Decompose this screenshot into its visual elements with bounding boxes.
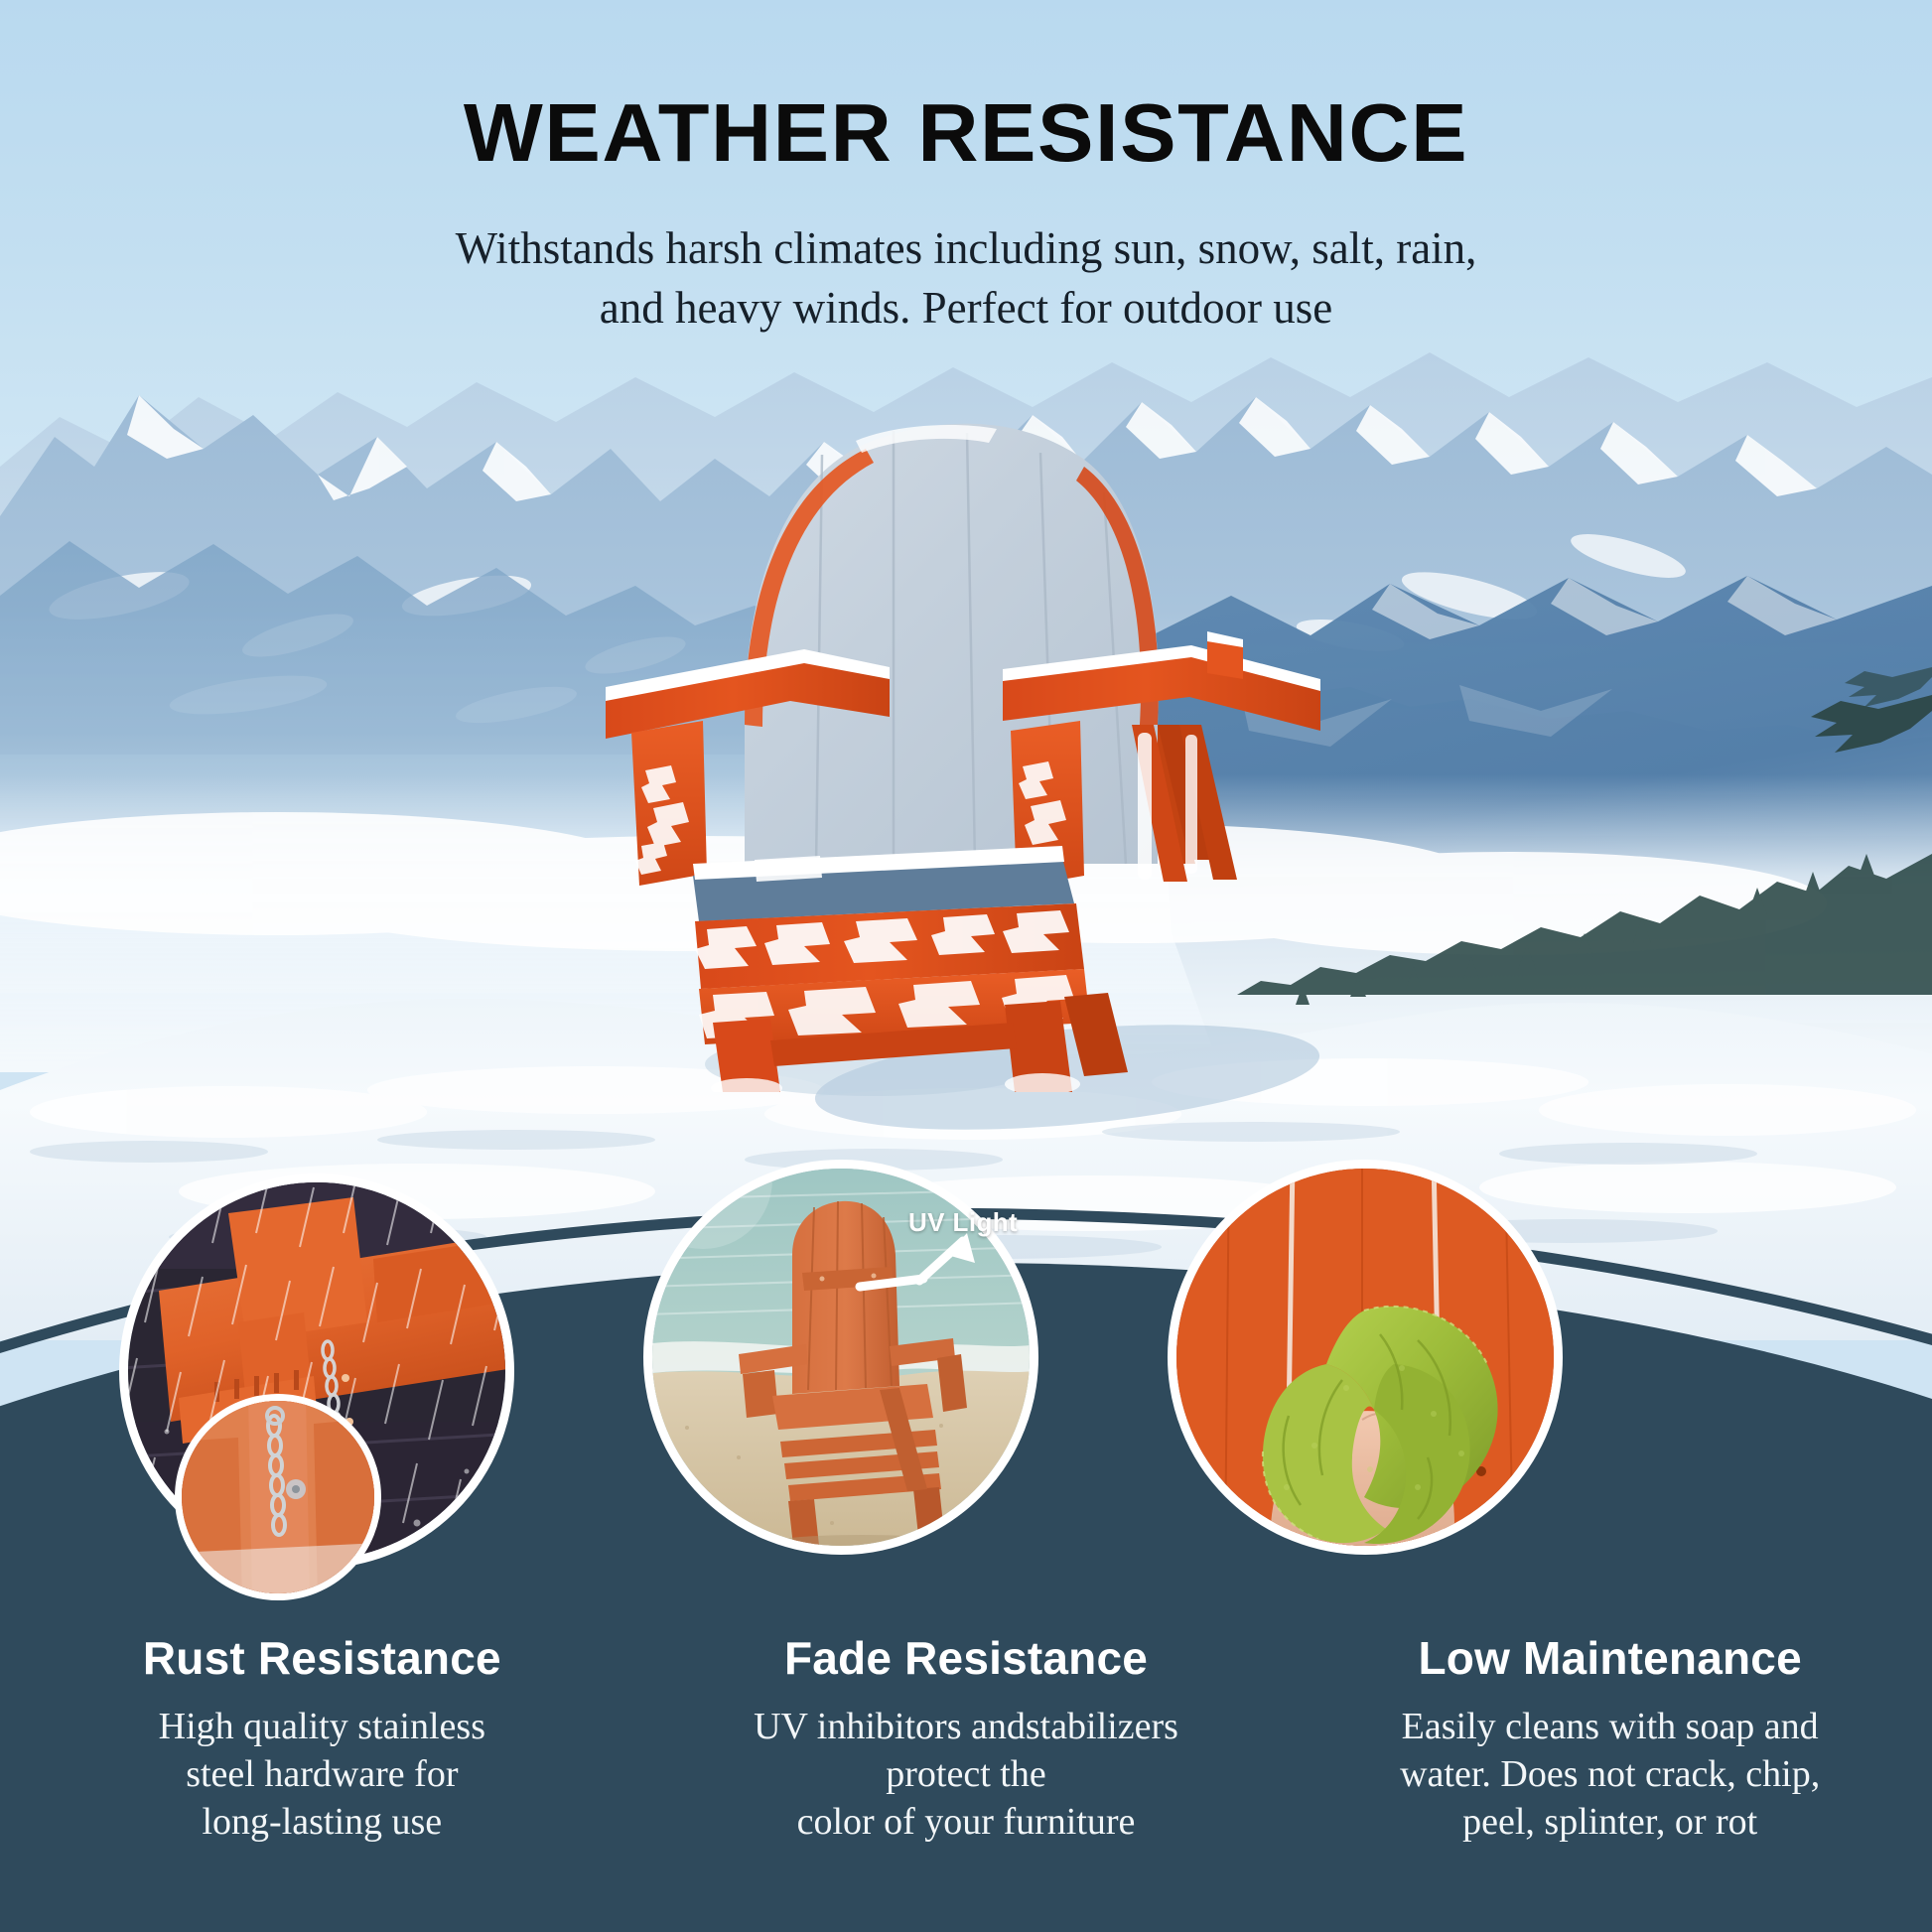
uv-light-label: UV Light [908, 1207, 1018, 1238]
weather-resistance-infographic: WEATHER RESISTANCE Withstands harsh clim… [0, 0, 1932, 1932]
feature-title-low: Low Maintenance [1311, 1634, 1908, 1682]
feature-desc-fade: UV inhibitors andstabilizers protect the… [668, 1704, 1265, 1847]
feature-desc-fade-line-3: color of your furniture [797, 1801, 1136, 1843]
feature-desc-rust-line-1: High quality stainless [159, 1706, 485, 1747]
feature-title-fade: Fade Resistance [668, 1634, 1265, 1682]
feature-desc-fade-line-1: UV inhibitors andstabilizers [754, 1706, 1178, 1747]
page-title: WEATHER RESISTANCE [0, 0, 1932, 174]
feature-desc-fade-line-2: protect the [886, 1753, 1045, 1795]
feature-desc-low-line-2: water. Does not crack, chip, [1400, 1753, 1820, 1795]
feature-rust-resistance: Rust Resistance High quality stainless s… [0, 1634, 644, 1932]
feature-desc-rust: High quality stainless steel hardware fo… [24, 1704, 621, 1847]
feature-captions: Rust Resistance High quality stainless s… [0, 1634, 1932, 1932]
feature-fade-resistance: Fade Resistance UV inhibitors andstabili… [644, 1634, 1289, 1932]
feature-inset-chain-detail [175, 1394, 381, 1600]
feature-desc-low: Easily cleans with soap and water. Does … [1311, 1704, 1908, 1847]
subtitle-line-1: Withstands harsh climates including sun,… [456, 223, 1477, 273]
feature-desc-rust-line-3: long-lasting use [202, 1801, 442, 1843]
feature-desc-low-line-3: peel, splinter, or rot [1462, 1801, 1757, 1843]
feature-low-maintenance: Low Maintenance Easily cleans with soap … [1288, 1634, 1932, 1932]
feature-desc-low-line-1: Easily cleans with soap and [1402, 1706, 1819, 1747]
feature-image-low-maintenance [1168, 1160, 1563, 1555]
page-subtitle: Withstands harsh climates including sun,… [0, 174, 1932, 339]
subtitle-line-2: and heavy winds. Perfect for outdoor use [600, 283, 1333, 333]
feature-title-rust: Rust Resistance [24, 1634, 621, 1682]
uv-light-arrow-icon [854, 1229, 1013, 1309]
feature-desc-rust-line-2: steel hardware for [186, 1753, 458, 1795]
header-block: WEATHER RESISTANCE Withstands harsh clim… [0, 0, 1932, 339]
